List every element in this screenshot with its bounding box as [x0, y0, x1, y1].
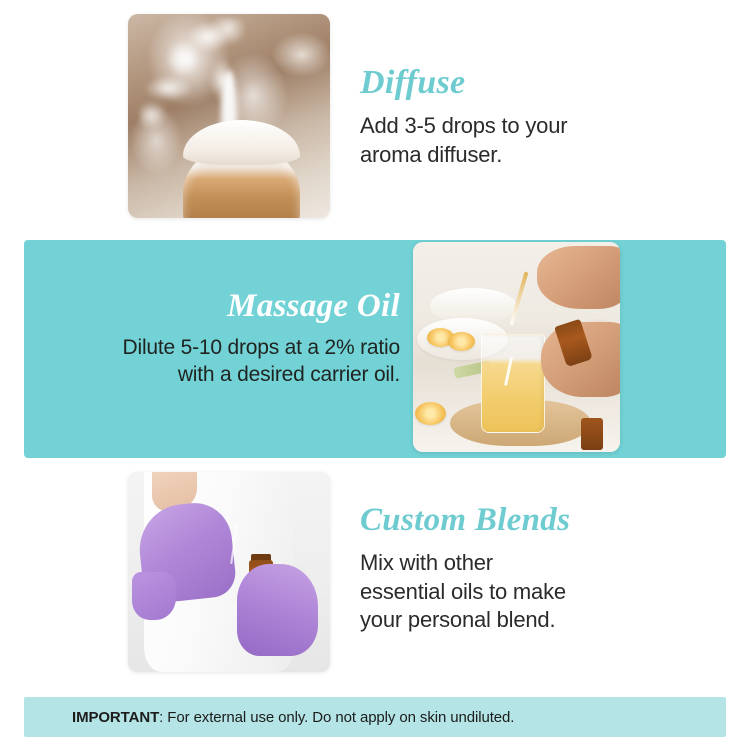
citrus-slice-c — [415, 402, 446, 425]
glass-stirrer — [504, 357, 513, 386]
important-notice-bar: IMPORTANT: For external use only. Do not… — [24, 697, 726, 737]
purple-glove-right — [237, 564, 318, 656]
infographic-root: Diffuse Add 3-5 drops to your aroma diff… — [0, 0, 750, 750]
section-massage-oil: Massage Oil Dilute 5-10 drops at a 2% ra… — [0, 232, 750, 464]
diffuse-body-line-1: Add 3-5 drops to your — [360, 112, 690, 141]
purple-glove-left-cuff — [132, 572, 176, 620]
important-body: For external use only. Do not apply on s… — [167, 709, 514, 726]
massage-oil-body-line-1: Dilute 5-10 drops at a 2% ratio — [44, 334, 400, 361]
custom-blends-heading: Custom Blends — [360, 504, 700, 537]
custom-blends-body-line-1: Mix with other — [360, 549, 700, 578]
glass-beaker-with-oil — [481, 334, 545, 433]
diffuse-text-block: Diffuse Add 3-5 drops to your aroma diff… — [360, 66, 690, 169]
section-custom-blends: Custom Blends Mix with other essential o… — [0, 464, 750, 689]
custom-blends-body-line-3: your personal blend. — [360, 606, 700, 635]
massage-oil-text-block: Massage Oil Dilute 5-10 drops at a 2% ra… — [44, 290, 400, 389]
massage-oil-body-line-2: with a desired carrier oil. — [44, 361, 400, 388]
massage-oil-photo — [413, 242, 620, 452]
important-label: IMPORTANT — [72, 709, 159, 726]
diffuser-photo — [128, 14, 330, 218]
diffuse-body-line-2: aroma diffuser. — [360, 141, 690, 170]
massage-oil-heading: Massage Oil — [44, 290, 400, 323]
custom-blends-body-line-2: essential oils to make — [360, 578, 700, 607]
diffuse-heading: Diffuse — [360, 66, 690, 100]
amber-oil-bottle-secondary — [581, 418, 604, 450]
custom-blends-text-block: Custom Blends Mix with other essential o… — [360, 504, 700, 635]
important-notice-text: IMPORTANT: For external use only. Do not… — [72, 709, 514, 726]
section-diffuse: Diffuse Add 3-5 drops to your aroma diff… — [0, 0, 750, 232]
custom-blends-photo — [128, 472, 330, 672]
hand-holding-pipette — [537, 246, 620, 309]
